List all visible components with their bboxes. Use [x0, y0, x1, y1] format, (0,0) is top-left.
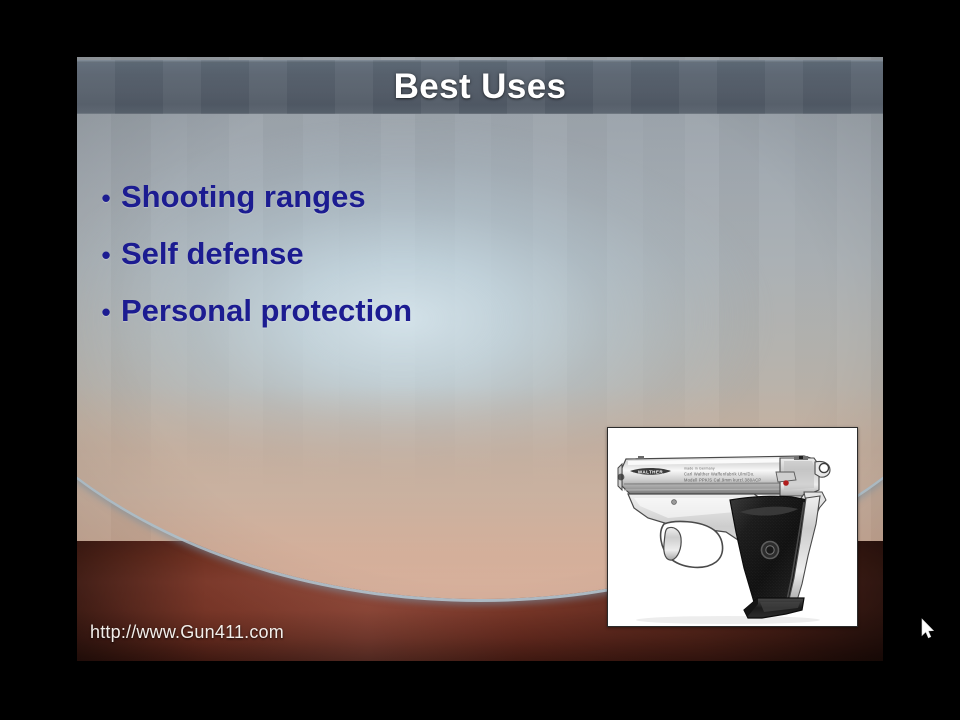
pistol-illustration: WALTHER made in Germany Carl Walther Waf…: [608, 428, 857, 626]
list-item: • Shooting ranges: [91, 179, 651, 215]
grip-medallion-icon: [762, 542, 779, 559]
mouse-pointer-icon: [921, 618, 935, 639]
pistol-hammer: [815, 461, 830, 477]
svg-text:made in Germany: made in Germany: [684, 467, 715, 471]
svg-text:Carl Walther Waffenfabrik Ulm/: Carl Walther Waffenfabrik Ulm/Do.: [684, 472, 755, 477]
bullet-dot-icon: •: [91, 299, 121, 325]
page-title: Best Uses: [77, 60, 883, 114]
slide-title-bar: Best Uses: [77, 60, 883, 114]
list-item: • Personal protection: [91, 293, 651, 329]
list-item: • Self defense: [91, 236, 651, 272]
svg-text:WALTHER: WALTHER: [638, 470, 663, 475]
video-stage: Best Uses • Shooting ranges • Self defen…: [0, 0, 960, 720]
list-item-label: Shooting ranges: [121, 179, 366, 215]
presentation-slide: Best Uses • Shooting ranges • Self defen…: [77, 57, 883, 661]
bullet-dot-icon: •: [91, 242, 121, 268]
list-item-label: Self defense: [121, 236, 304, 272]
list-item-label: Personal protection: [121, 293, 412, 329]
pistol-image: WALTHER made in Germany Carl Walther Waf…: [607, 427, 858, 627]
svg-text:Modell PPK/S Cal.9mm kurz/.380: Modell PPK/S Cal.9mm kurz/.380ACP: [684, 478, 761, 483]
bullet-list: • Shooting ranges • Self defense • Perso…: [91, 179, 651, 350]
footer-url-label: http://www.Gun411.com: [90, 622, 284, 643]
bullet-dot-icon: •: [91, 185, 121, 211]
